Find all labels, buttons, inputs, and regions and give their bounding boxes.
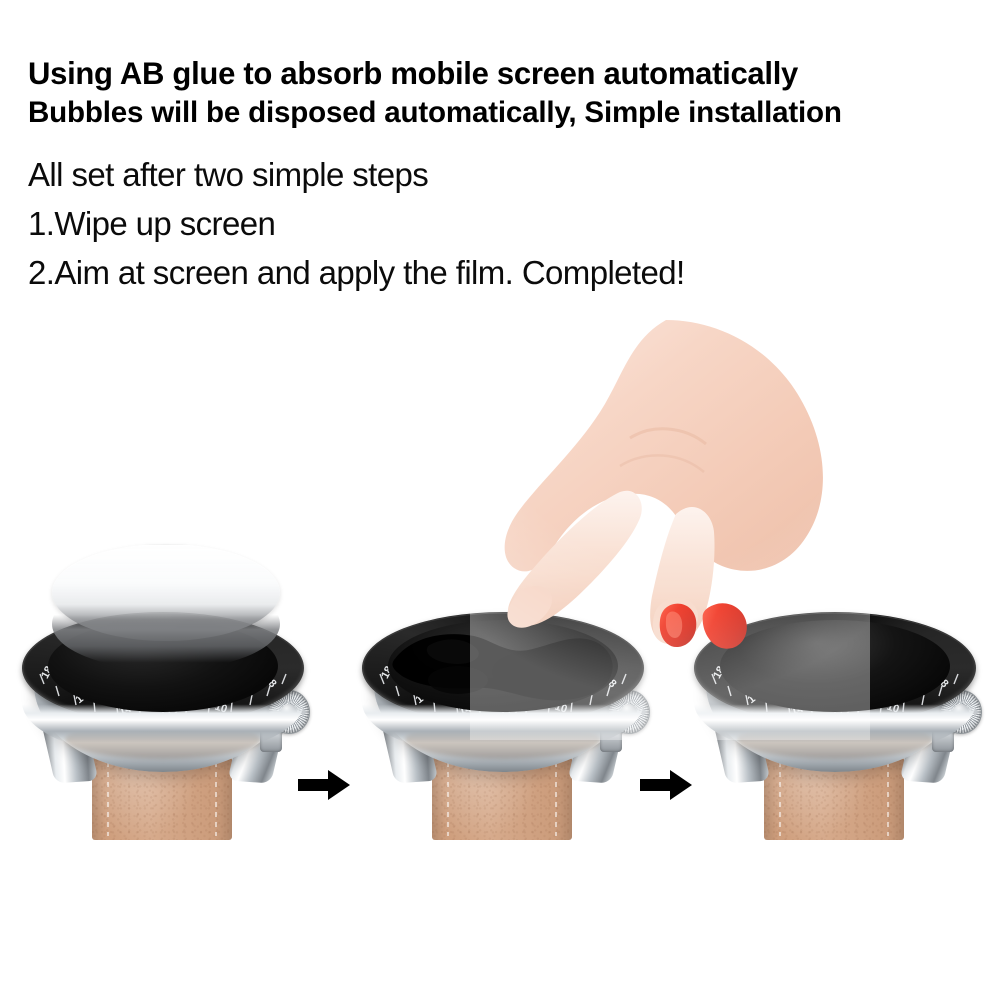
arrow-1-icon	[296, 768, 352, 802]
screen-protector-film	[52, 544, 280, 641]
watch-dial-screen	[720, 620, 950, 712]
watch-application-scene: 18 16 14 12 10 8	[0, 520, 1000, 860]
intro-line: All set after two simple steps	[28, 150, 978, 199]
watch-step-2: 18 16 14 12 10 8	[348, 550, 658, 850]
step-line-1: 1.Wipe up screen	[28, 199, 978, 248]
headline-line-2: Bubbles will be disposed automatically, …	[28, 93, 964, 132]
glue-bubble-pattern	[388, 620, 618, 712]
instruction-text-block: Using AB glue to absorb mobile screen au…	[28, 54, 978, 297]
watch-dial-screen	[388, 620, 618, 712]
product-infographic-page: Using AB glue to absorb mobile screen au…	[0, 0, 1000, 1000]
step-line-2: 2.Aim at screen and apply the film. Comp…	[28, 248, 978, 297]
steps-list: All set after two simple steps 1.Wipe up…	[28, 150, 978, 297]
watch-step-1: 18 16 14 12 10 8	[8, 550, 318, 850]
watch-step-3: 18 16 14 12 10 8	[680, 550, 990, 850]
headline-line-1: Using AB glue to absorb mobile screen au…	[28, 54, 964, 93]
